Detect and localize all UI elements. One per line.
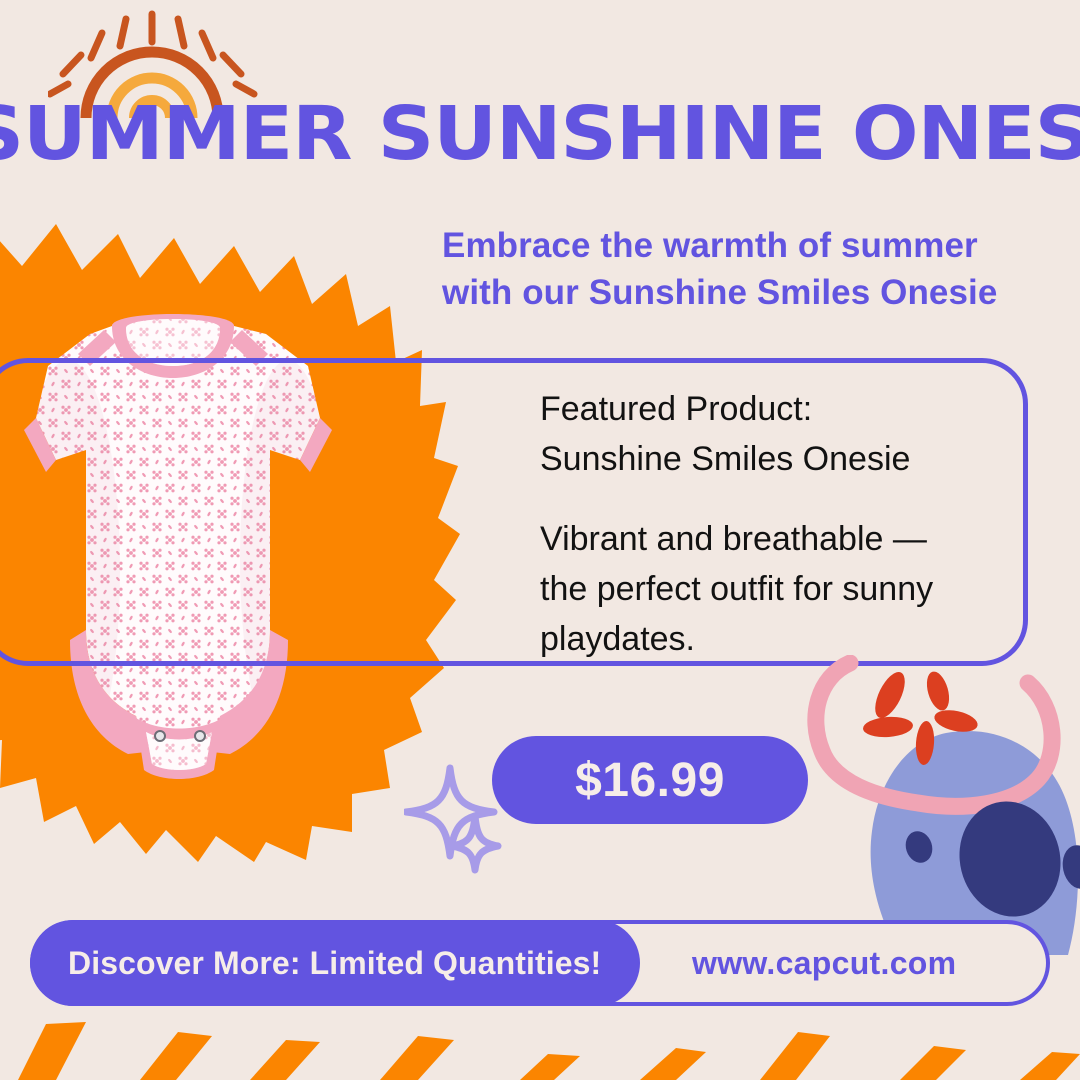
orange-brush-strokes	[0, 1012, 1080, 1080]
promo-poster: SUMMER SUNSHINE ONESIE Embrace the warmt…	[0, 0, 1080, 1080]
subtitle-line-1: Embrace the warmth of summer	[442, 222, 1002, 269]
price-badge[interactable]: $16.99	[492, 736, 808, 824]
page-title: SUMMER SUNSHINE ONESIE	[0, 97, 1080, 171]
featured-product-name: Sunshine Smiles Onesie	[540, 435, 1020, 485]
description-line-2: the perfect outfit for sunny	[540, 565, 1020, 615]
discover-more-button[interactable]: Discover More: Limited Quantities!	[30, 920, 640, 1006]
subtitle-line-2: with our Sunshine Smiles Onesie	[442, 269, 1002, 316]
koala-doodle-icon	[788, 655, 1080, 955]
featured-label: Featured Product:	[540, 385, 1020, 435]
website-url-link[interactable]: www.capcut.com	[692, 920, 956, 1006]
price-label: $16.99	[575, 753, 725, 808]
subtitle: Embrace the warmth of summer with our Su…	[442, 222, 1002, 317]
cta-bar: Discover More: Limited Quantities! www.c…	[30, 920, 1050, 1006]
discover-more-label: Discover More: Limited Quantities!	[30, 945, 601, 982]
featured-product-text: Featured Product: Sunshine Smiles Onesie…	[540, 385, 1020, 665]
description-line-1: Vibrant and breathable —	[540, 515, 1020, 565]
